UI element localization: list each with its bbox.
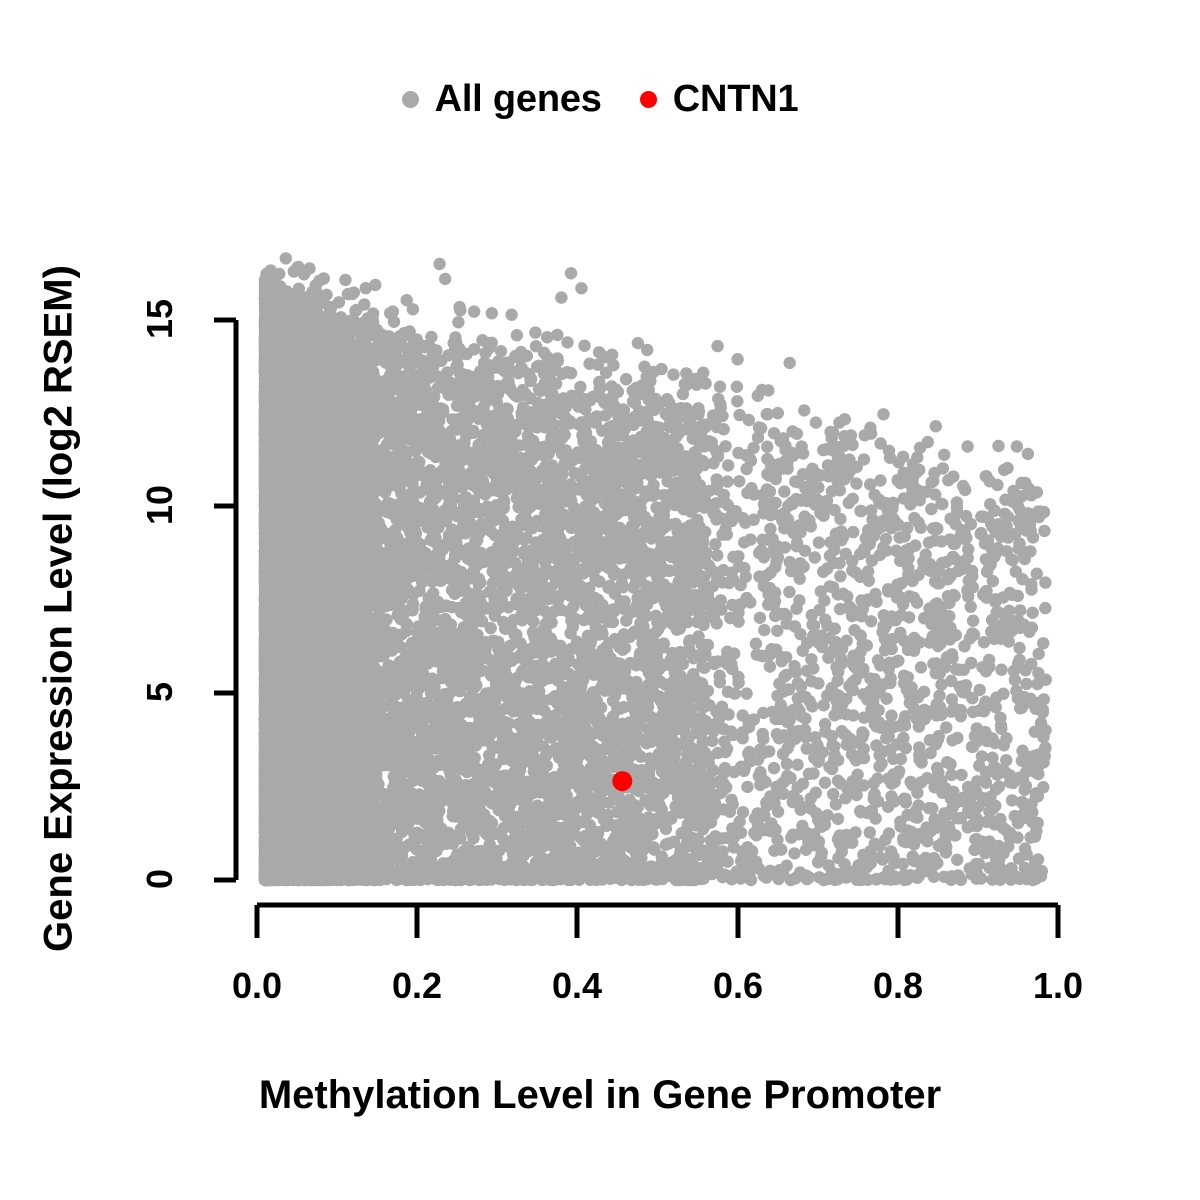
y-tick-label-0: 0 [139, 839, 181, 919]
y-tick-label-5: 5 [139, 652, 181, 732]
x-tick-label-1: 0.2 [392, 965, 442, 1007]
x-tick-label-0: 0.0 [232, 965, 282, 1007]
x-tick-label-4: 0.8 [873, 965, 923, 1007]
scatter-plot-figure: All genes CNTN1 0.0 0.2 0.4 0 [0, 0, 1200, 1200]
highlight-point-cntn1 [612, 771, 632, 791]
plot-canvas [0, 0, 1200, 1200]
x-tick-label-2: 0.4 [552, 965, 602, 1007]
data-points-layer [259, 252, 1052, 886]
x-tick-label-5: 1.0 [1033, 965, 1083, 1007]
y-tick-label-15: 15 [139, 279, 181, 359]
highlight-point-layer [612, 771, 632, 791]
y-tick-label-10: 10 [139, 465, 181, 545]
x-tick-label-3: 0.6 [713, 965, 763, 1007]
